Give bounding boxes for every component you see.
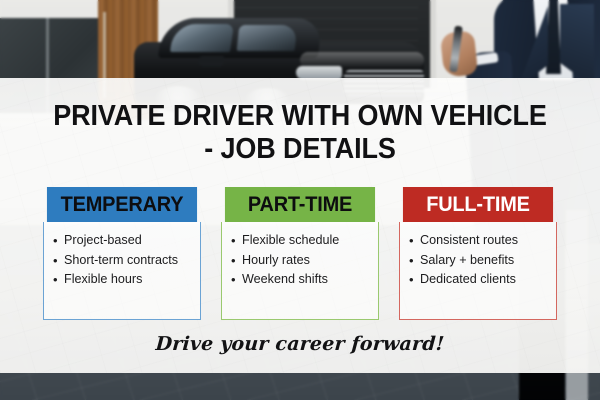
benefit-list-full-time: Consistent routes Salary + benefits Dedi… (409, 231, 552, 290)
tagline: Drive your career forward! (0, 333, 600, 355)
list-item: Short-term contracts (53, 251, 196, 271)
list-item: Hourly rates (231, 251, 374, 271)
card-body-temperary: Project-based Short-term contracts Flexi… (43, 222, 201, 320)
page-title: PRIVATE DRIVER WITH OWN VEHICLE - JOB DE… (49, 100, 551, 166)
list-item: Project-based (53, 231, 196, 251)
job-type-card-part-time[interactable]: PART-TIME Flexible schedule Hourly rates… (221, 187, 379, 320)
benefit-list-temperary: Project-based Short-term contracts Flexi… (53, 231, 196, 290)
job-type-card-full-time[interactable]: FULL-TIME Consistent routes Salary + ben… (399, 187, 557, 320)
list-item: Dedicated clients (409, 270, 552, 290)
benefit-list-part-time: Flexible schedule Hourly rates Weekend s… (231, 231, 374, 290)
card-title-part-time: PART-TIME (225, 187, 375, 222)
card-body-full-time: Consistent routes Salary + benefits Dedi… (399, 222, 557, 320)
card-title-full-time: FULL-TIME (403, 187, 553, 222)
poster-content: PRIVATE DRIVER WITH OWN VEHICLE - JOB DE… (0, 0, 600, 400)
list-item: Flexible hours (53, 270, 196, 290)
list-item: Flexible schedule (231, 231, 374, 251)
poster-canvas: PRIVATE DRIVER WITH OWN VEHICLE - JOB DE… (0, 0, 600, 400)
job-type-card-group: TEMPERARY Project-based Short-term contr… (43, 187, 557, 320)
card-body-part-time: Flexible schedule Hourly rates Weekend s… (221, 222, 379, 320)
card-title-temperary: TEMPERARY (47, 187, 197, 222)
list-item: Consistent routes (409, 231, 552, 251)
job-type-card-temperary[interactable]: TEMPERARY Project-based Short-term contr… (43, 187, 201, 320)
list-item: Salary + benefits (409, 251, 552, 271)
list-item: Weekend shifts (231, 270, 374, 290)
